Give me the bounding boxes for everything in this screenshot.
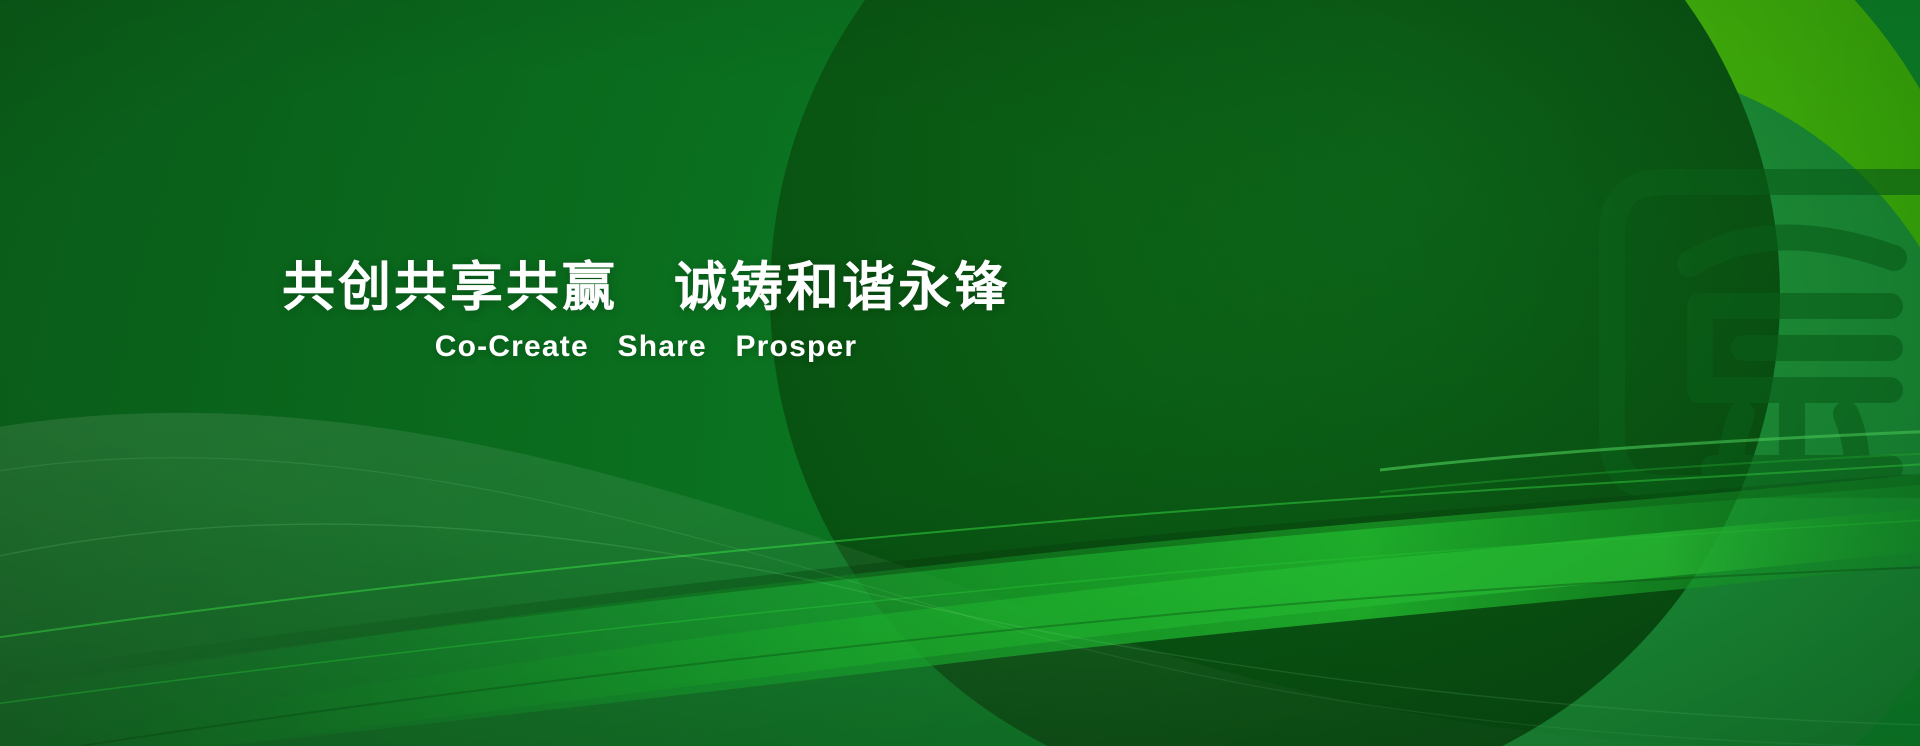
page-subtitle: Co-Create Share Prosper [0,329,1292,365]
page-title: 共创共享共赢 诚铸和谐永锋 [0,258,1292,317]
vignette-overlay [0,0,1920,746]
banner-canvas: 共创共享共赢 诚铸和谐永锋 Co-Create Share Prosper [0,0,1920,746]
headline-block: 共创共享共赢 诚铸和谐永锋 Co-Create Share Prosper [0,258,1292,365]
